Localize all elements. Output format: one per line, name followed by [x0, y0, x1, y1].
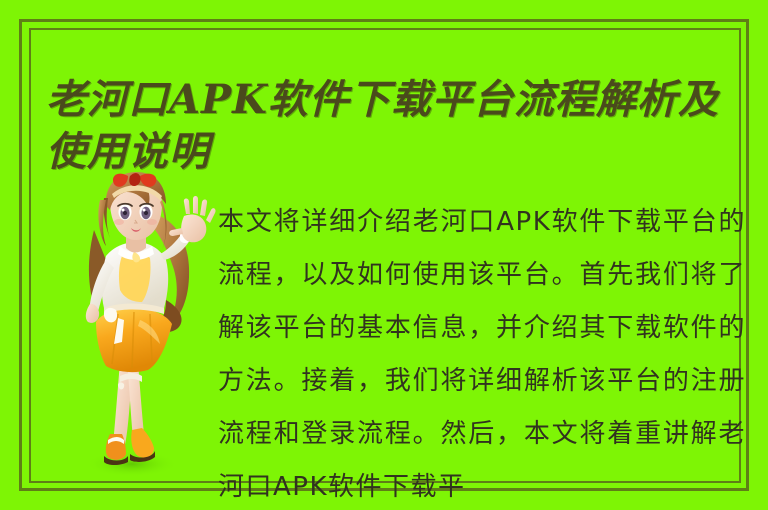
- finger-4: [206, 208, 216, 223]
- page-title: 老河口APK软件下载平台流程解析及使用说明: [46, 74, 752, 178]
- blush-right: [147, 219, 157, 225]
- character-shadow: [86, 451, 178, 477]
- eye-highlight-right: [143, 209, 146, 212]
- poster-canvas: 老河口APK软件下载平台流程解析及使用说明 本文将详细介绍老河口APK软件下载平…: [0, 0, 768, 510]
- blush-left: [114, 219, 124, 225]
- hand-right: [181, 214, 206, 242]
- finger-2: [193, 196, 198, 214]
- finger-3: [200, 199, 207, 216]
- article-body-text: 本文将详细介绍老河口APK软件下载平台的流程，以及如何使用该平台。首先我们将了解…: [218, 196, 746, 510]
- eye-highlight-left: [122, 209, 125, 212]
- pupil-right: [144, 211, 148, 215]
- pupil-left: [123, 211, 127, 215]
- anime-girl-character-illustration: [62, 172, 222, 490]
- finger-1: [184, 198, 190, 214]
